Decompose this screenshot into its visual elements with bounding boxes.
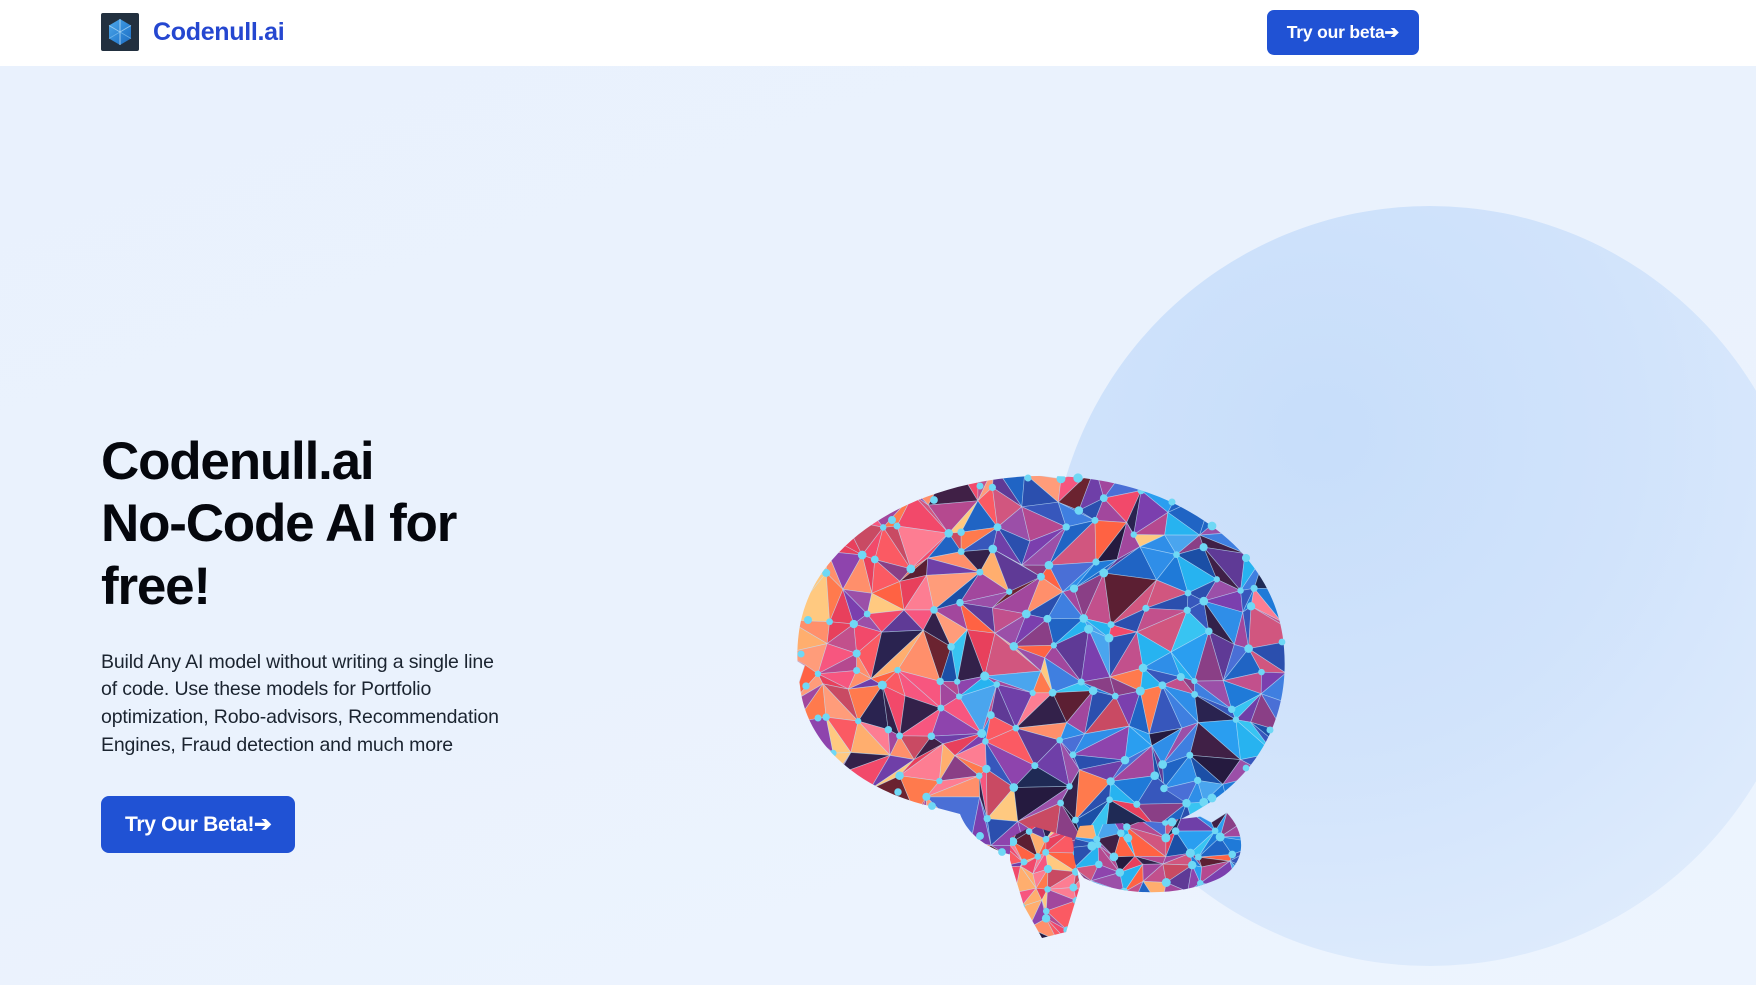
hero-subtitle: Build Any AI model without writing a sin… [101, 649, 501, 760]
header-try-beta-button[interactable]: Try our beta➔ [1267, 10, 1419, 55]
hero-copy: Codenull.ai No-Code AI for free! Build A… [101, 431, 571, 853]
hero-try-beta-button[interactable]: Try Our Beta!➔ [101, 796, 295, 853]
hexagon-crystal-logo-icon [101, 13, 139, 51]
brand-logo[interactable]: Codenull.ai [101, 13, 284, 51]
site-header: Codenull.ai Try our beta➔ [0, 0, 1756, 66]
low-poly-network-brain-illustration [680, 386, 1300, 946]
brand-name: Codenull.ai [153, 20, 284, 45]
hero-section: Codenull.ai No-Code AI for free! Build A… [0, 66, 1756, 985]
page-title: Codenull.ai No-Code AI for free! [101, 431, 571, 618]
